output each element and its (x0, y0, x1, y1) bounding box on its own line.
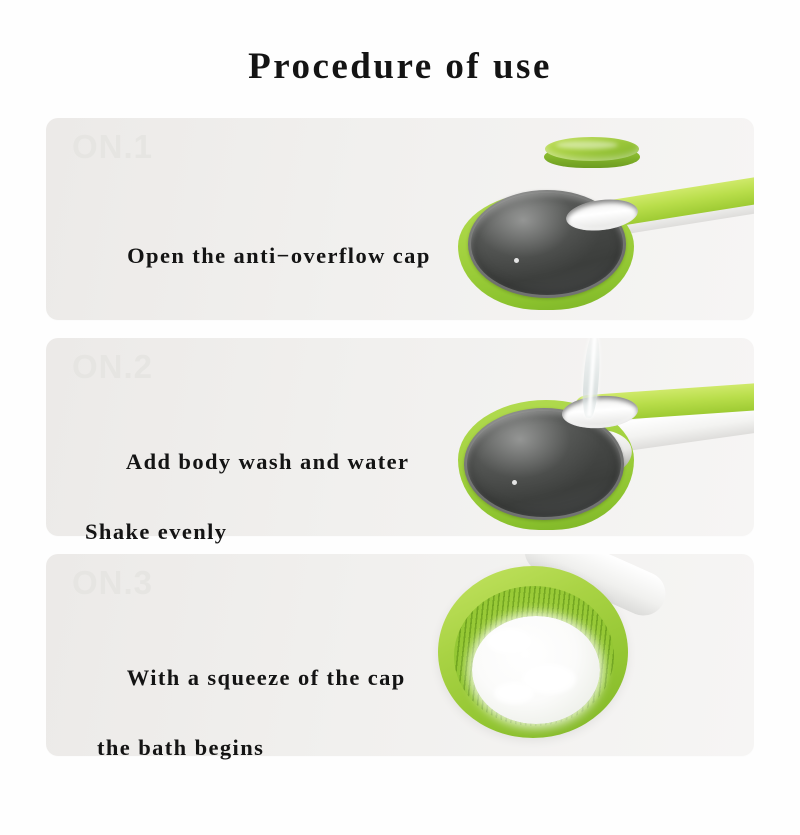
step-3-line-1: With a squeeze of the cap (127, 665, 406, 690)
page-title: Procedure of use (0, 48, 800, 85)
product-illustration-step-2 (402, 338, 754, 536)
bath-brush-bottom-view (402, 554, 754, 756)
reservoir-dome (464, 408, 624, 520)
water-stream-icon (581, 338, 602, 418)
cap-side (544, 146, 640, 168)
bath-brush-side-view (402, 118, 754, 320)
bath-brush-side-view (402, 338, 754, 536)
handle-oval-hole (561, 393, 639, 430)
step-card-1: ON.1 Open the anti−overflow cap (46, 118, 754, 320)
foam-bubble (486, 628, 532, 654)
handle-oval-hole (564, 196, 639, 235)
product-illustration-step-1 (402, 118, 754, 320)
steps-list: ON.1 Open the anti−overflow cap (46, 118, 754, 774)
step-text-1: Open the anti−overflow cap (85, 204, 431, 309)
foam-bubble (494, 682, 534, 704)
handle-green-grip (573, 382, 754, 423)
brush-head-green-ring (438, 566, 628, 738)
step-card-3: ON.3 With a squeeze of the cap the bath … (46, 554, 754, 756)
step-2-line-1: Add body wash and water (126, 449, 410, 474)
step-index-2: ON.2 (72, 348, 153, 386)
handle-green-grip (572, 174, 754, 233)
reservoir-dome-rim (468, 190, 626, 298)
cap-highlight (556, 141, 618, 149)
reservoir-dome (468, 190, 626, 298)
handle-white-base (560, 181, 754, 243)
brush-head-green-cup (458, 400, 634, 530)
step-2-line-2: Shake evenly (85, 515, 409, 550)
anti-overflow-cap-icon (544, 137, 640, 171)
cap-top (545, 137, 639, 161)
brush-neck (544, 207, 624, 269)
foam-bubble (522, 664, 576, 694)
step-card-2: ON.2 Add body wash and water Shake evenl… (46, 338, 754, 536)
product-illustration-step-3 (402, 554, 754, 756)
dome-specular-dot (512, 480, 517, 485)
brush-head-green-cup (458, 192, 634, 310)
step-text-3: With a squeeze of the cap the bath begin… (85, 626, 406, 835)
step-3-line-2: the bath begins (85, 731, 406, 766)
handle-white-base (560, 401, 754, 460)
soap-foam (472, 616, 600, 724)
brush-handle-stub (518, 554, 673, 623)
step-1-line-1: Open the anti−overflow cap (127, 243, 431, 268)
step-index-1: ON.1 (72, 128, 153, 166)
dome-specular-dot (514, 258, 519, 263)
water-stream-highlight (587, 338, 597, 416)
brush-neck (548, 423, 635, 486)
step-index-3: ON.3 (72, 564, 153, 602)
reservoir-dome-rim (464, 408, 624, 520)
silicone-bristles (454, 586, 614, 726)
